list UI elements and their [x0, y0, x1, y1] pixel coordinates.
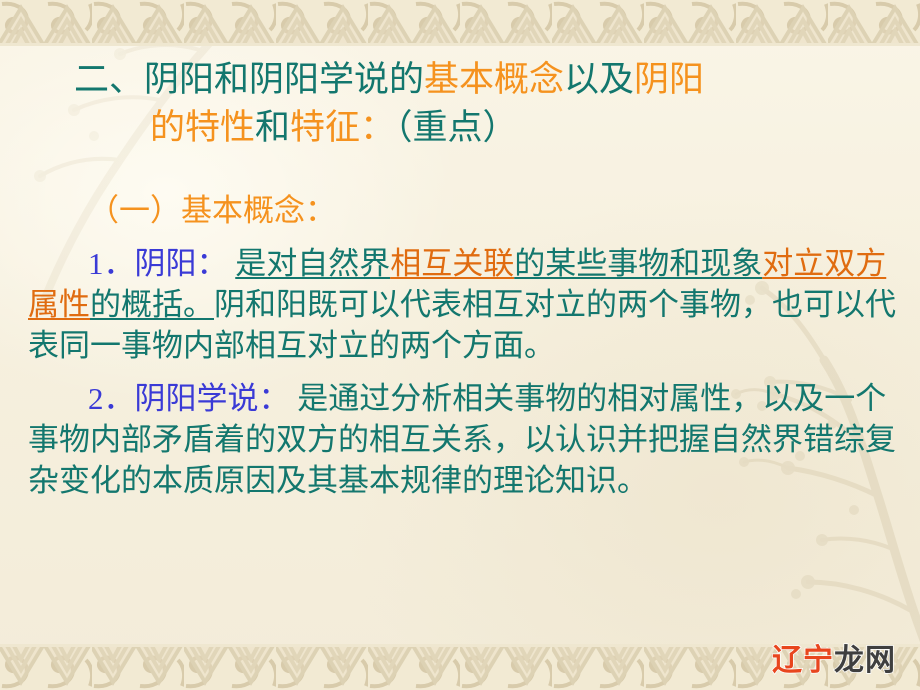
item1-underline-orange-1: 相互关联 [390, 246, 514, 281]
title-segment-3: 以及 [564, 60, 634, 100]
title-segment-2: 基本概念 [424, 60, 564, 100]
item1-underline-teal-2: 的某些事物和现象 [514, 246, 762, 281]
title-segment-4: 阴阳 [634, 60, 704, 100]
item2-term: 阴阳学说： [135, 381, 290, 416]
slide-content: 二、阴阳和阴阳学说的基本概念以及阴阳的特性和特征：（重点） （一）基本概念： 1… [0, 0, 920, 690]
watermark-part-2: 龙网 [834, 643, 896, 678]
body-heading-text: （一）基本概念： [88, 193, 336, 228]
item1-underline-teal-3: 的概括。 [90, 287, 214, 322]
watermark-part-1: 辽宁 [772, 643, 834, 678]
slide-body: （一）基本概念： 1．阴阳： 是对自然界相互关联的某些事物和现象对立双方属性的概… [28, 190, 896, 501]
item1-number: 1． [88, 246, 135, 281]
title-segment-6: 和 [255, 108, 290, 148]
item1-underline-teal-1: 是对自然界 [235, 246, 390, 281]
title-segment-7: 特征： [290, 108, 395, 148]
title-segment-8: （重点） [395, 108, 518, 148]
site-watermark: 辽宁龙网 [772, 646, 896, 676]
body-heading: （一）基本概念： [88, 190, 896, 231]
slide-title: 二、阴阳和阴阳学说的基本概念以及阴阳的特性和特征：（重点） [74, 56, 864, 152]
item1-term: 阴阳： [135, 246, 228, 281]
definition-item-2: 2．阴阳学说： 是通过分析相关事物的相对属性，以及一个事物内部矛盾着的双方的相互… [28, 378, 896, 501]
title-segment-5: 的特性 [150, 108, 255, 148]
item2-number: 2． [88, 381, 135, 416]
definition-item-1: 1．阴阳： 是对自然界相互关联的某些事物和现象对立双方属性的概括。阴和阳既可以代… [28, 243, 896, 366]
slide-canvas: 二、阴阳和阴阳学说的基本概念以及阴阳的特性和特征：（重点） （一）基本概念： 1… [0, 0, 920, 690]
title-segment-1: 二、阴阳和阴阳学说的 [74, 60, 424, 100]
